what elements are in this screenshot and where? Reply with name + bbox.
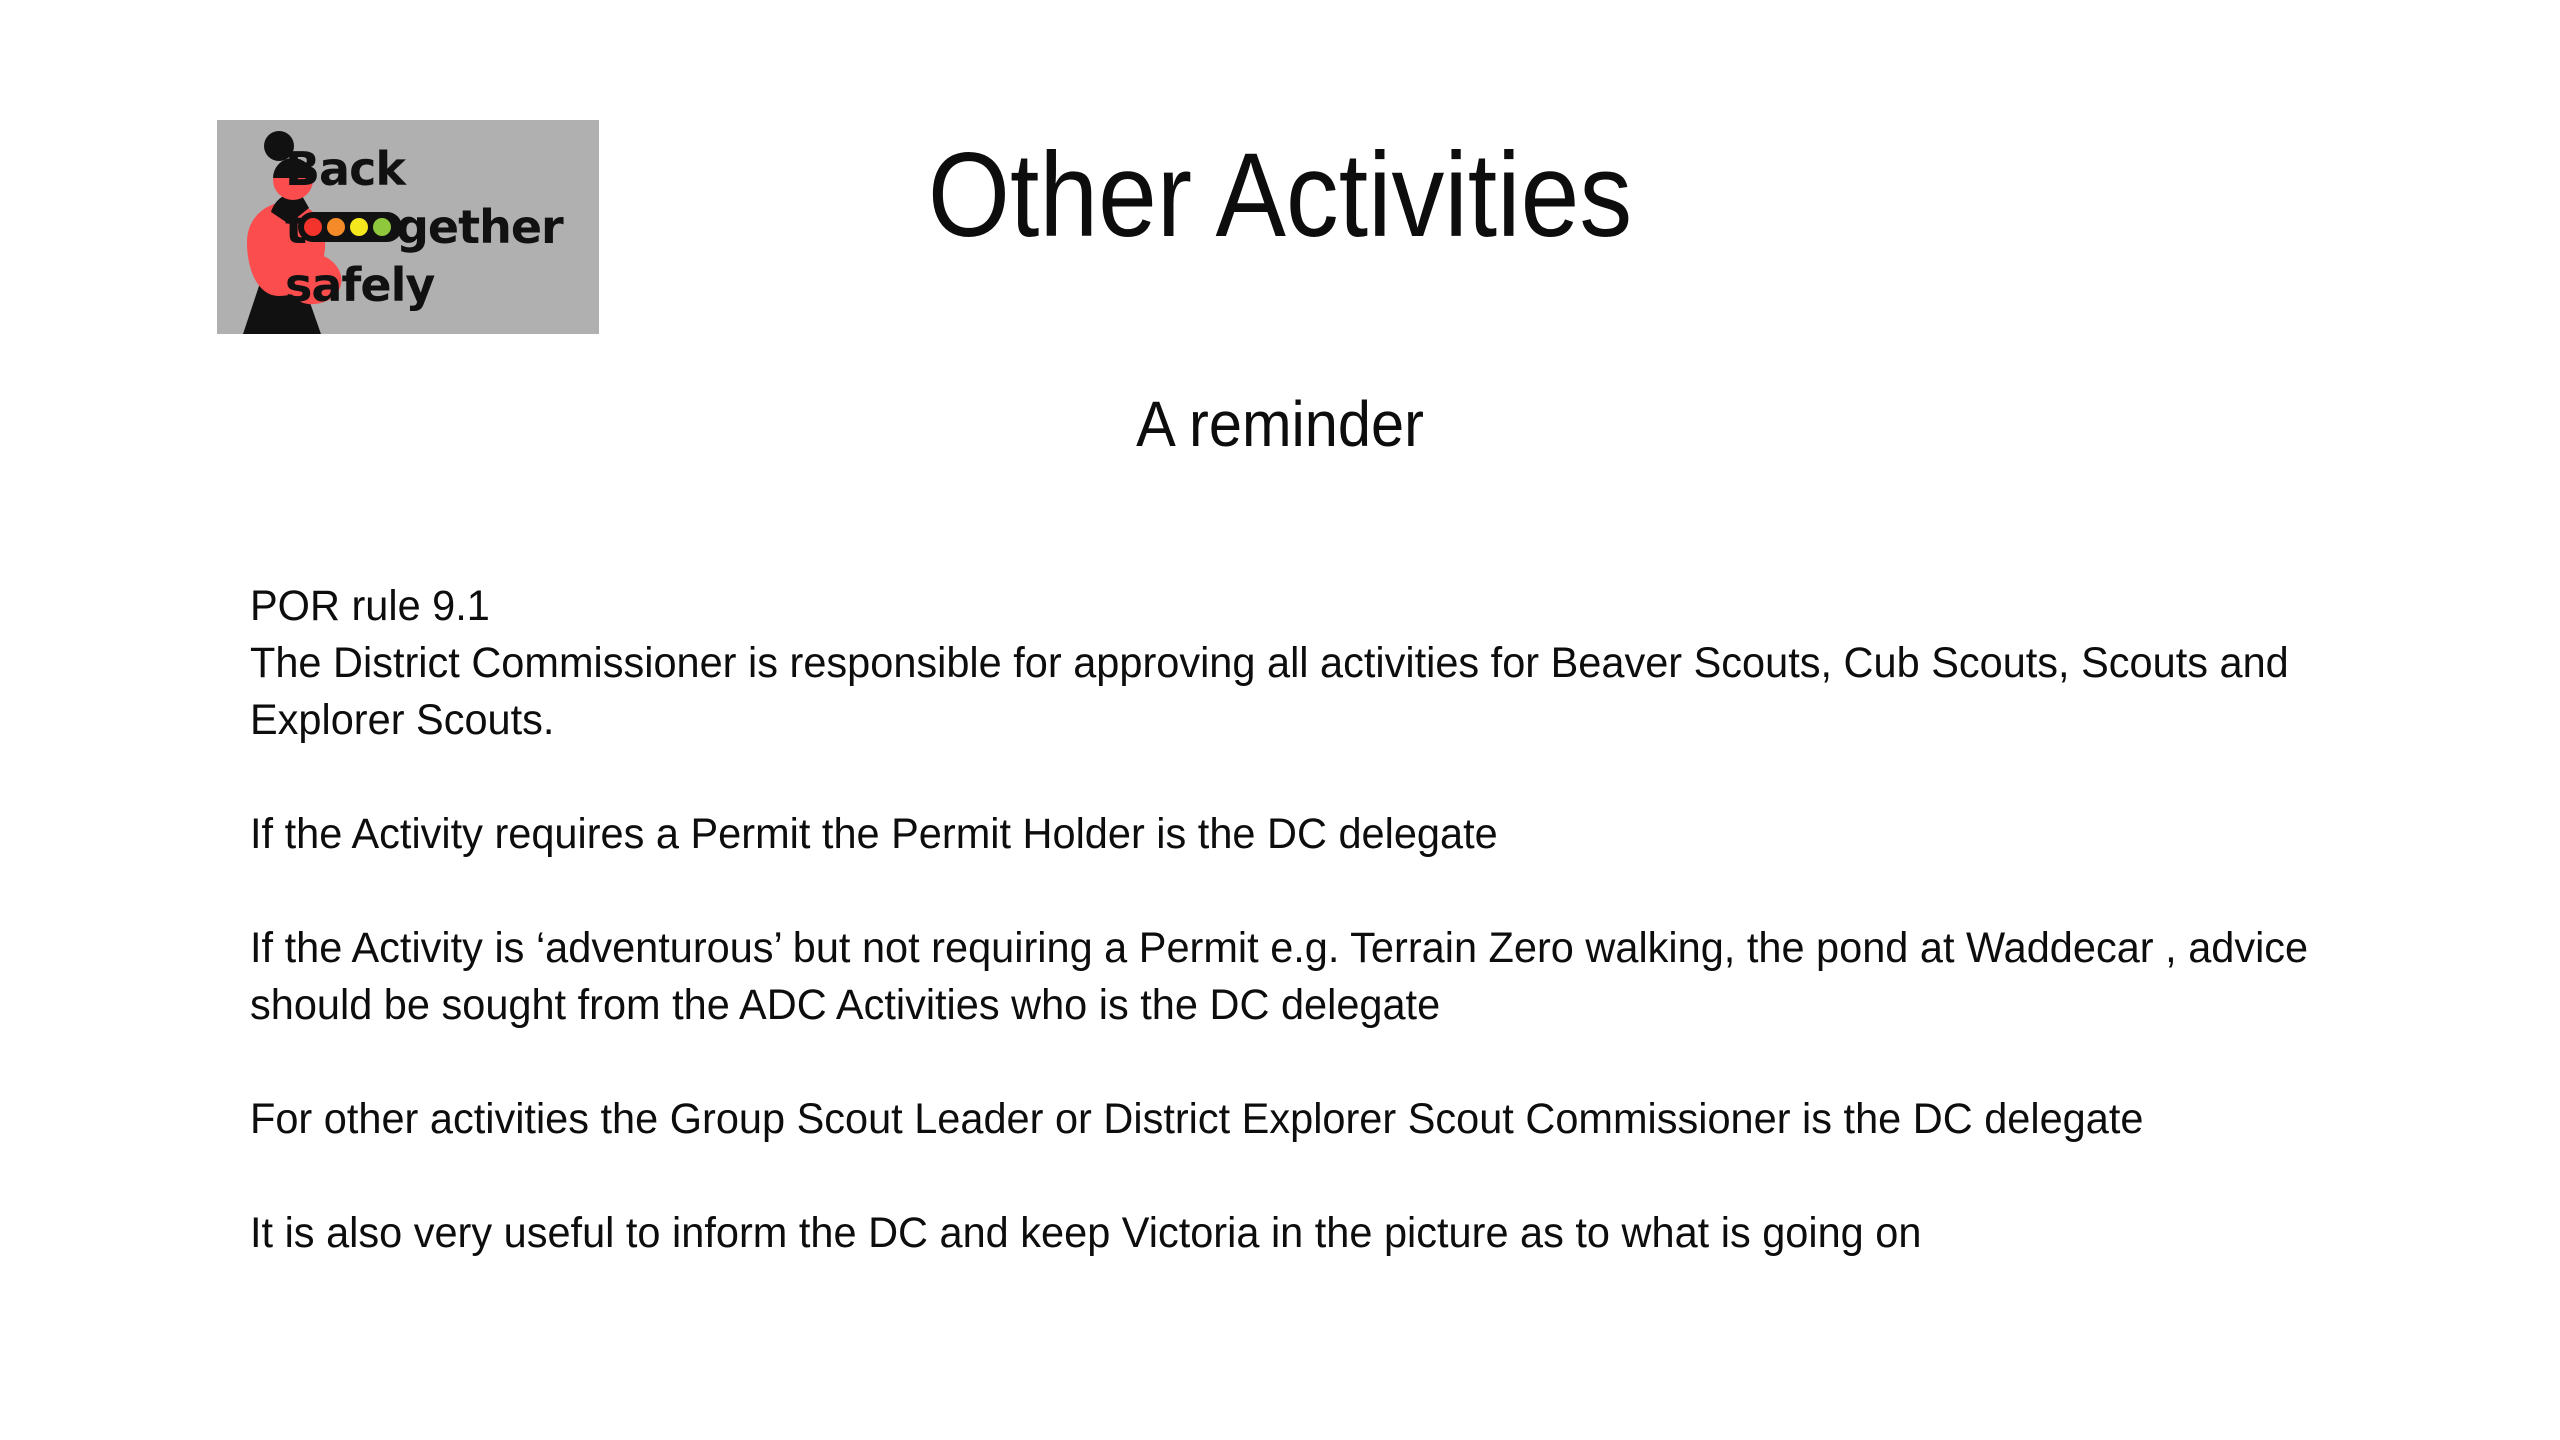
body-paragraph-district-commissioner: The District Commissioner is responsible… <box>250 635 2354 749</box>
body-paragraph-permit-holder: If the Activity requires a Permit the Pe… <box>250 806 2354 863</box>
traffic-light-orange <box>327 218 345 236</box>
slide-subtitle: A reminder <box>443 385 2117 463</box>
traffic-light-green <box>373 218 391 236</box>
slide: Back tgether safely Other Activities A r… <box>0 0 2560 1440</box>
slide-body: POR rule 9.1 The District Commissioner i… <box>250 578 2430 1262</box>
paragraph-spacer <box>250 1148 2430 1205</box>
traffic-light-red <box>304 218 322 236</box>
body-paragraph-adventurous: If the Activity is ‘adventurous’ but not… <box>250 920 2354 1034</box>
body-paragraph-other-activities: For other activities the Group Scout Lea… <box>250 1091 2354 1148</box>
traffic-light-yellow <box>350 218 368 236</box>
slide-title: Other Activities <box>488 125 2072 265</box>
body-paragraph-por-rule: POR rule 9.1 <box>250 578 2354 635</box>
paragraph-spacer <box>250 1034 2430 1091</box>
traffic-light-icon <box>298 212 402 242</box>
body-paragraph-inform-dc: It is also very useful to inform the DC … <box>250 1205 2354 1262</box>
paragraph-spacer <box>250 863 2430 920</box>
paragraph-spacer <box>250 749 2430 806</box>
